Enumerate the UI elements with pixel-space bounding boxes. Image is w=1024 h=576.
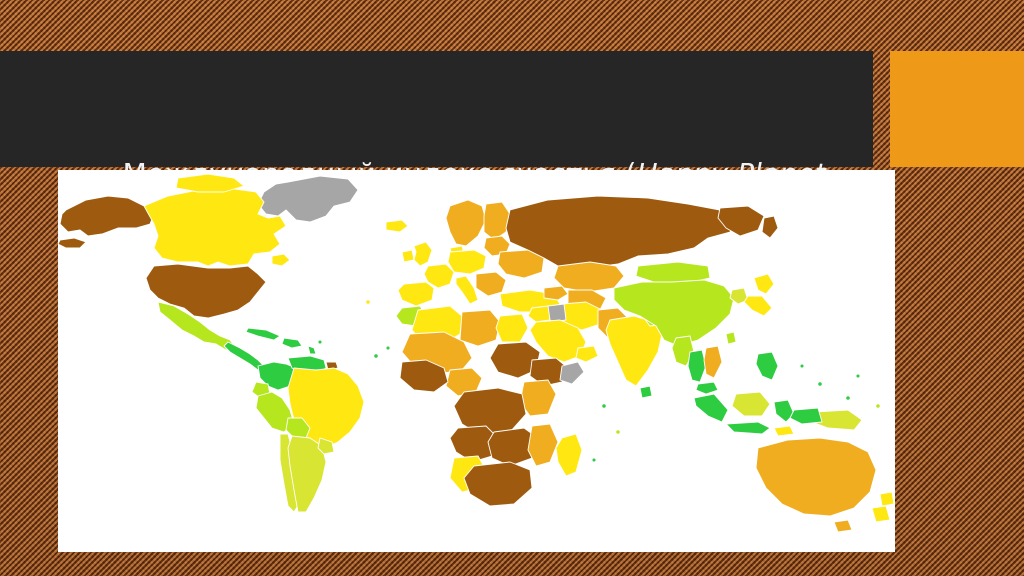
island-dot-pacific-1 xyxy=(818,382,822,386)
region-libya xyxy=(460,310,500,346)
region-new-zealand-north xyxy=(880,492,894,506)
slide: Международный индекс счастья (Happy Plan… xyxy=(0,0,1024,576)
region-sri-lanka xyxy=(640,386,652,398)
island-dot-pacific-3 xyxy=(876,404,880,408)
island-dot-indian-2 xyxy=(616,430,620,434)
island-dot-pacific-2 xyxy=(846,396,850,400)
island-dot-indian-1 xyxy=(602,404,606,408)
island-dot-pacific-5 xyxy=(800,364,804,368)
island-dot-atlantic-2 xyxy=(366,300,370,304)
world-map-panel xyxy=(58,170,895,552)
island-dot-africa-west xyxy=(386,346,390,350)
region-ireland xyxy=(402,250,414,262)
island-dot-indian-3 xyxy=(592,458,596,462)
island-dot-atlantic-1 xyxy=(374,354,378,358)
region-timor xyxy=(774,426,794,436)
island-dot-caribbean-1 xyxy=(318,340,322,344)
region-kazakhstan xyxy=(554,262,624,292)
world-map-svg xyxy=(58,170,895,552)
title-bar: Международный индекс счастья (Happy Plan… xyxy=(0,51,873,167)
region-taiwan xyxy=(726,332,736,344)
island-dot-pacific-4 xyxy=(856,374,860,378)
accent-block xyxy=(890,51,1024,167)
